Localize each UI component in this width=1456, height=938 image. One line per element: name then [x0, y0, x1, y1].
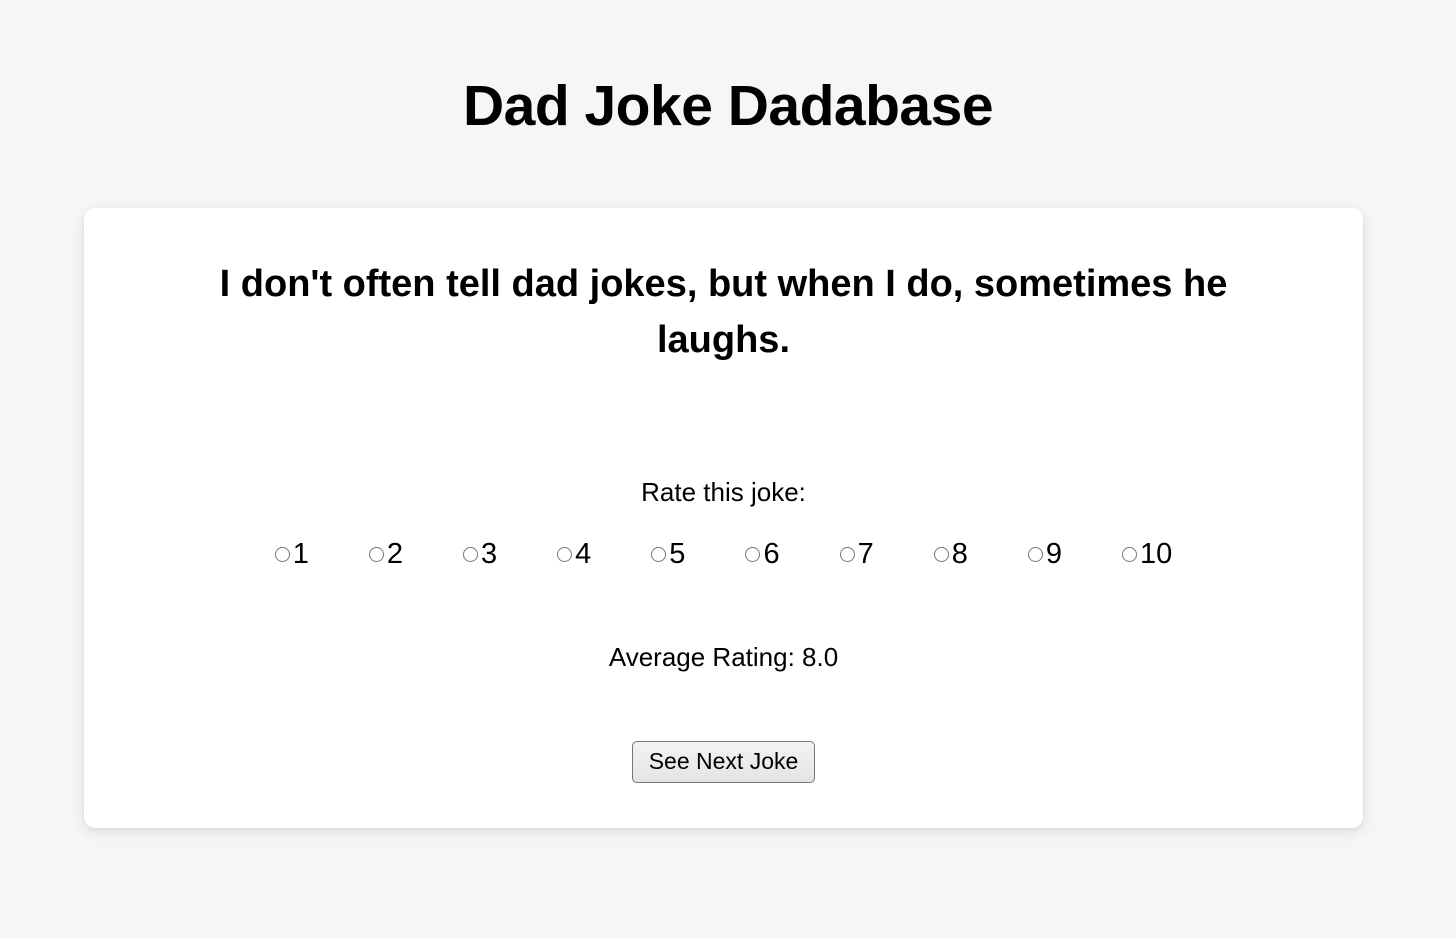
rating-option-4[interactable]: 4	[557, 540, 591, 569]
rating-option-3[interactable]: 3	[463, 540, 497, 569]
page-title: Dad Joke Dadabase	[0, 0, 1456, 140]
joke-card: I don't often tell dad jokes, but when I…	[84, 208, 1363, 828]
rating-option-label: 10	[1140, 540, 1172, 569]
rating-radio-group[interactable]: 1 2 3 4 5 6	[84, 508, 1363, 569]
radio-button-icon[interactable]	[369, 547, 384, 562]
rating-option-label: 7	[858, 540, 874, 569]
radio-button-icon[interactable]	[745, 547, 760, 562]
rating-option-label: 4	[575, 540, 591, 569]
radio-button-icon[interactable]	[1028, 547, 1043, 562]
rating-option-label: 8	[952, 540, 968, 569]
rating-option-label: 2	[387, 540, 403, 569]
page-root: Dad Joke Dadabase I don't often tell dad…	[0, 0, 1456, 938]
see-next-joke-button[interactable]: See Next Joke	[632, 741, 816, 783]
rating-option-8[interactable]: 8	[934, 540, 968, 569]
radio-button-icon[interactable]	[651, 547, 666, 562]
average-rating-text: Average Rating: 8.0	[84, 569, 1363, 673]
radio-button-icon[interactable]	[557, 547, 572, 562]
rating-option-label: 3	[481, 540, 497, 569]
rating-option-2[interactable]: 2	[369, 540, 403, 569]
rating-option-7[interactable]: 7	[840, 540, 874, 569]
radio-button-icon[interactable]	[1122, 547, 1137, 562]
rating-option-label: 1	[293, 540, 309, 569]
rating-option-1[interactable]: 1	[275, 540, 309, 569]
radio-button-icon[interactable]	[275, 547, 290, 562]
rating-option-label: 5	[669, 540, 685, 569]
rating-option-10[interactable]: 10	[1122, 540, 1172, 569]
joke-text: I don't often tell dad jokes, but when I…	[84, 208, 1363, 368]
radio-button-icon[interactable]	[840, 547, 855, 562]
rating-option-5[interactable]: 5	[651, 540, 685, 569]
radio-button-icon[interactable]	[463, 547, 478, 562]
radio-button-icon[interactable]	[934, 547, 949, 562]
rating-option-6[interactable]: 6	[745, 540, 779, 569]
rating-option-label: 9	[1046, 540, 1062, 569]
button-row: See Next Joke	[84, 673, 1363, 783]
rate-joke-label: Rate this joke:	[84, 368, 1363, 508]
rating-option-9[interactable]: 9	[1028, 540, 1062, 569]
rating-option-label: 6	[763, 540, 779, 569]
